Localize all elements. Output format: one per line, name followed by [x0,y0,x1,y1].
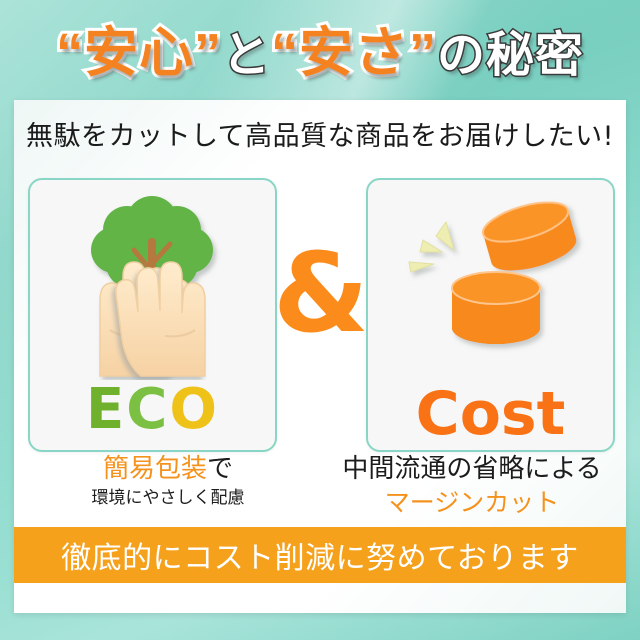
eco-caption-main: 簡易包装で [28,452,308,486]
eco-caption-highlight: 簡易包装 [103,454,207,484]
eco-letter-e: E [86,377,126,442]
box-body-icon [452,272,540,344]
eco-caption-sub: 環境にやさしく配慮 [28,486,308,510]
header-title-orange-1: “安心” [56,23,222,83]
cost-wordmark: Cost [368,384,613,444]
cost-caption: 中間流通の省略による マージンカット [332,452,612,520]
header-title: “安心”と“安さ”の秘密 [0,0,640,98]
card-captions: 簡易包装で 環境にやさしく配慮 中間流通の省略による マージンカット [14,452,626,532]
eco-letter-c: C [126,377,169,442]
cost-caption-highlight: マージンカット [332,486,612,520]
header-title-white-2: の秘密 [437,29,584,82]
header-title-orange-2: “安さ” [271,23,437,83]
eco-caption-suffix: で [207,454,233,484]
coin-box-icon [368,180,613,380]
cost-caption-main: 中間流通の省略による [332,452,612,486]
cost-card[interactable]: Cost [366,178,615,452]
eco-caption: 簡易包装で 環境にやさしく配慮 [28,452,308,510]
bottom-banner-text: 徹底的にコスト削減に努めております [61,533,579,577]
ampersand-separator: & [273,238,369,348]
lead-statement: 無駄をカットして高品質な商品をお届けしたい! [14,114,626,153]
header-title-line: “安心”と“安さ”の秘密 [56,8,584,87]
eco-letter-o: O [169,377,219,442]
hands-tree-illustration [30,180,275,380]
eco-card[interactable]: ECO [28,178,277,452]
sparkle-icon [409,222,454,272]
poster-root: “安心”と“安さ”の秘密 無駄をカットして高品質な商品をお届けしたい! [0,0,640,640]
bottom-banner: 徹底的にコスト削減に努めております [14,527,626,583]
header-title-white-1: と [222,29,271,82]
coin-box-illustration [368,180,613,380]
box-lid-icon [479,195,581,279]
feature-cards: ECO & [14,178,626,458]
hands-tree-icon [30,180,275,380]
eco-wordmark: ECO [30,382,275,438]
